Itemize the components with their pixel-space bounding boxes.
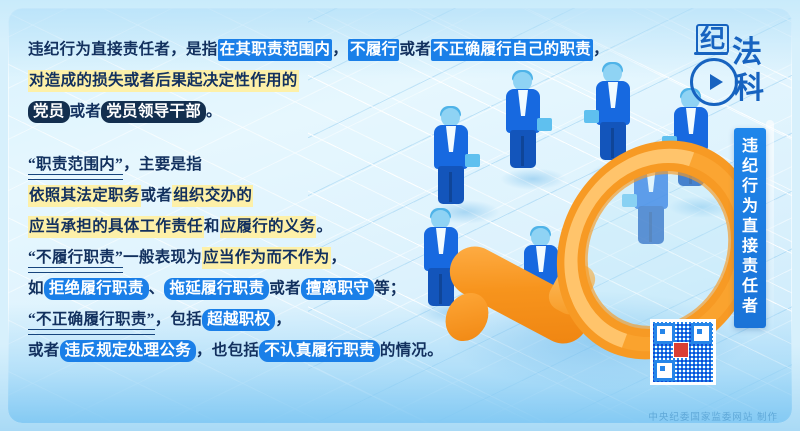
- text-run-plain: ，也包括: [196, 342, 259, 359]
- text-run-plain: 或者: [28, 342, 60, 359]
- banner-char: 责: [734, 257, 766, 277]
- text-run-hl-blue: 在其职责范围内: [218, 39, 333, 61]
- logo-bai-bar: [694, 52, 728, 55]
- qr-finder-top-left: [654, 323, 675, 344]
- qr-code[interactable]: [650, 319, 716, 385]
- briefcase-icon: [584, 110, 599, 123]
- text-run-plain: 。: [316, 218, 332, 235]
- banner-char: 为: [734, 197, 766, 217]
- text-line: 应当承担的具体工作责任和应履行的义务。: [28, 211, 448, 242]
- text-run-plain: ，: [275, 311, 291, 328]
- banner-char: 违: [734, 137, 766, 157]
- infographic-poster: 违纪行为直接责任者，是指在其职责范围内，不履行或者不正确履行自己的职责，对造成的…: [0, 0, 800, 431]
- text-run-plain: 如: [28, 280, 44, 297]
- text-run-pill-blue[interactable]: 拖延履行职责: [164, 278, 269, 300]
- logo-char-fa: 法: [732, 38, 762, 68]
- text-run-dbl-underline: “职责范围内”: [28, 156, 123, 173]
- text-run-plain: 和: [204, 218, 220, 235]
- text-line: 对造成的损失或者后果起决定性作用的: [28, 65, 448, 96]
- text-run-hl-blue: 不履行: [348, 39, 399, 61]
- text-run-pill-blue[interactable]: 不认真履行职责: [259, 340, 380, 362]
- banner-char: 直: [734, 217, 766, 237]
- text-line: 违纪行为直接责任者，是指在其职责范围内，不履行或者不正确履行自己的职责，: [28, 34, 448, 65]
- text-run-plain: ，是指: [170, 41, 217, 58]
- brand-logo[interactable]: 纪 法 科: [682, 24, 778, 116]
- text-run-plain: ，: [331, 249, 347, 266]
- text-run-plain: 或者: [269, 280, 301, 297]
- text-run-plain: 的情况。: [380, 342, 443, 359]
- text-run-plain: 一般表现为: [123, 249, 202, 266]
- footer-credit: 中央纪委国家监委网站 制作: [648, 409, 778, 423]
- text-run-plain: ，: [593, 41, 609, 58]
- text-run-pill-blue[interactable]: 违反规定处理公务: [60, 340, 196, 362]
- vertical-title-banner: 违纪行为直接责任者: [734, 128, 766, 328]
- text-run-badge-navy: 党员领导干部: [101, 101, 206, 123]
- banner-char: 接: [734, 237, 766, 257]
- logo-char-ke: 科: [734, 74, 764, 104]
- banner-char: 行: [734, 177, 766, 197]
- banner-char: 纪: [734, 157, 766, 177]
- text-line: 依照其法定职务或者组织交办的: [28, 180, 448, 211]
- text-run-badge-navy: 党员: [28, 101, 70, 123]
- text-run-plain: ，包括: [155, 311, 202, 328]
- text-line: “职责范围内”，主要是指: [28, 149, 448, 180]
- qr-center-logo: [673, 342, 689, 358]
- text-run-plain: 或者: [399, 41, 431, 58]
- logo-char-ji: 纪: [696, 24, 729, 54]
- text-run-hl-yellow: 应履行的义务: [220, 216, 317, 238]
- text-run-hl-yellow: 应当作为而不作为: [202, 247, 330, 269]
- text-run-dbl-underline: “不正确履行职责”: [28, 311, 155, 328]
- briefcase-icon: [537, 118, 552, 131]
- text-run-plain: 或者: [70, 103, 102, 120]
- text-run-hl-yellow: 依照其法定职务: [28, 185, 141, 207]
- qr-finder-bottom-left: [654, 360, 675, 381]
- text-line: 党员或者党员领导干部。: [28, 96, 448, 127]
- logo-char-bai-play-icon: [690, 58, 738, 106]
- banner-side-accent: [766, 120, 774, 340]
- text-run-dbl-underline: “不履行职责”: [28, 249, 123, 266]
- article-body: 违纪行为直接责任者，是指在其职责范围内，不履行或者不正确履行自己的职责，对造成的…: [28, 34, 448, 366]
- text-line: 如拒绝履行职责、拖延履行职责或者擅离职守等；: [28, 273, 448, 304]
- qr-code-pattern: [653, 322, 713, 382]
- text-run-plain: 等；: [374, 280, 406, 297]
- banner-char: 任: [734, 277, 766, 297]
- text-run-pill-blue[interactable]: 擅离职守: [301, 278, 374, 300]
- text-line: “不正确履行职责”，包括超越职权，: [28, 304, 448, 335]
- text-run-plain: ，主要是指: [123, 156, 202, 173]
- text-line: “不履行职责”一般表现为应当作为而不作为，: [28, 242, 448, 273]
- text-run-plain: 或者: [141, 187, 173, 204]
- text-run-hl-yellow: 组织交办的: [172, 185, 253, 207]
- text-run-hl-blue: 不正确履行自己的职责: [431, 39, 593, 61]
- text-run-plain: ，: [332, 41, 348, 58]
- magnifying-glass-icon: [438, 142, 768, 412]
- text-line: 或者违反规定处理公务，也包括不认真履行职责的情况。: [28, 335, 448, 366]
- text-run-plain: 、: [149, 280, 165, 297]
- qr-finder-top-right: [691, 323, 712, 344]
- text-run-plain: 违纪行为直接责任者: [28, 41, 170, 58]
- text-run-hl-yellow: 应当承担的具体工作责任: [28, 216, 204, 238]
- text-run-pill-blue[interactable]: 超越职权: [202, 309, 275, 331]
- text-run-pill-blue[interactable]: 拒绝履行职责: [44, 278, 149, 300]
- banner-char: 者: [734, 297, 766, 317]
- text-run-hl-yellow: 对造成的损失或者后果起决定性作用的: [28, 70, 299, 92]
- paragraph-spacer: [28, 127, 448, 149]
- text-run-plain: 。: [206, 103, 222, 120]
